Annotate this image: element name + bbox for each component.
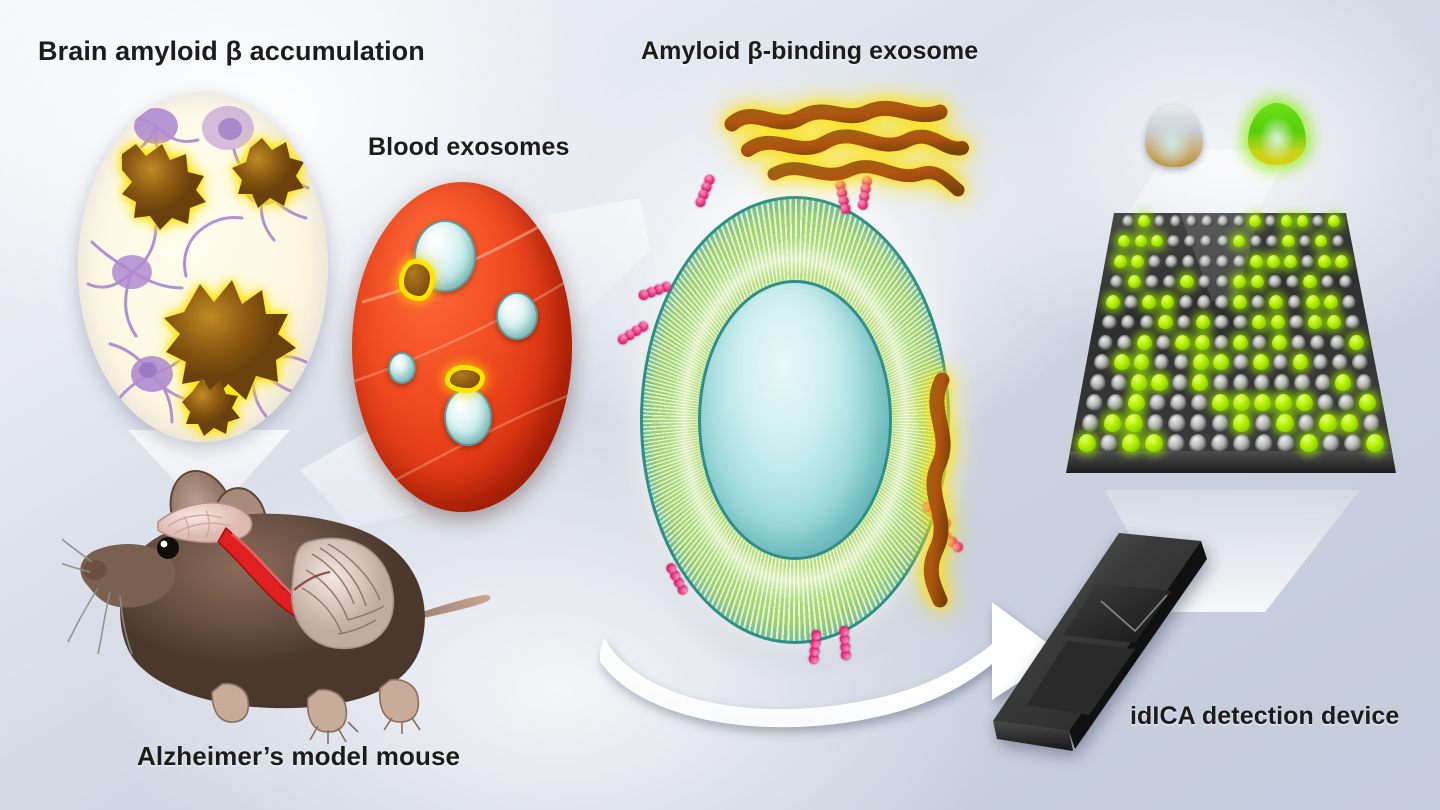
- well-negative: [1121, 315, 1136, 330]
- well-negative: [1342, 295, 1356, 309]
- well-negative: [1274, 374, 1290, 390]
- well-negative: [1167, 434, 1185, 452]
- well-negative: [1111, 374, 1127, 390]
- well-negative: [1277, 434, 1295, 452]
- well-positive: [1131, 374, 1147, 390]
- well-negative: [1338, 394, 1355, 411]
- well-negative: [1332, 235, 1344, 247]
- well-positive: [1251, 275, 1264, 288]
- well-positive: [1308, 315, 1323, 330]
- well-positive: [1125, 414, 1142, 431]
- alzheimers-model-mouse: [62, 430, 492, 750]
- well-negative: [1363, 414, 1380, 431]
- well-positive: [1213, 354, 1229, 370]
- well-positive: [1359, 394, 1376, 411]
- well-positive: [1193, 354, 1209, 370]
- well-negative: [1098, 335, 1113, 350]
- label-device: idICA detection device: [1130, 702, 1399, 731]
- well-negative: [1345, 315, 1360, 330]
- well-negative: [1273, 354, 1289, 370]
- well-negative: [1117, 335, 1132, 350]
- well-positive: [1341, 414, 1358, 431]
- well-negative: [1339, 275, 1352, 288]
- microwell-array-chip: [1060, 205, 1400, 485]
- well-negative: [1216, 275, 1229, 288]
- label-brain-amyloid: Brain amyloid β accumulation: [38, 36, 425, 67]
- well-positive: [1297, 215, 1309, 227]
- well-negative: [1122, 215, 1134, 227]
- mouse-eye: [157, 537, 179, 559]
- well-positive: [1192, 374, 1208, 390]
- well-negative: [1094, 354, 1110, 370]
- well-positive: [1135, 235, 1147, 247]
- well-negative: [1254, 374, 1270, 390]
- well-negative: [1191, 394, 1208, 411]
- well-positive: [1118, 235, 1130, 247]
- well-negative: [1190, 414, 1207, 431]
- brain-amyloid-oval: [78, 92, 328, 442]
- well-positive: [1158, 315, 1173, 330]
- well-positive: [1175, 335, 1190, 350]
- well-positive: [1306, 295, 1320, 309]
- well-negative: [1145, 275, 1158, 288]
- well-positive: [1145, 434, 1163, 452]
- well-negative: [1266, 235, 1278, 247]
- well-positive: [1233, 414, 1250, 431]
- well-negative: [1102, 315, 1117, 330]
- well-negative: [1233, 215, 1245, 227]
- well-negative: [1298, 414, 1315, 431]
- well-negative: [1215, 295, 1229, 309]
- well-positive: [1142, 295, 1156, 309]
- well-negative: [1216, 255, 1229, 268]
- well-positive: [1196, 315, 1211, 330]
- well-negative: [1148, 255, 1161, 268]
- label-mouse: Alzheimer’s model mouse: [137, 741, 460, 772]
- well-negative: [1344, 434, 1362, 452]
- well-negative: [1217, 235, 1229, 247]
- well-negative: [1255, 414, 1272, 431]
- well-negative: [1212, 414, 1229, 431]
- well-negative: [1288, 295, 1302, 309]
- well-negative: [1172, 374, 1188, 390]
- well-negative: [1165, 255, 1178, 268]
- well-positive: [1275, 394, 1292, 411]
- well-negative: [1213, 374, 1229, 390]
- well-negative: [1310, 335, 1325, 350]
- well-negative: [1168, 414, 1185, 431]
- well-negative: [1352, 354, 1368, 370]
- well-positive: [1134, 354, 1150, 370]
- well-positive: [1233, 394, 1250, 411]
- well-negative: [1110, 275, 1123, 288]
- well-positive: [1233, 335, 1248, 350]
- well-positive: [1272, 335, 1287, 350]
- well-positive: [1151, 374, 1167, 390]
- well-negative: [1154, 215, 1166, 227]
- well-positive: [1122, 434, 1140, 452]
- well-negative: [1090, 374, 1106, 390]
- exosome-vesicle: [496, 292, 538, 340]
- well-negative: [1233, 374, 1249, 390]
- exosome-lumen: [698, 280, 892, 560]
- bound-amyloid: [450, 370, 480, 388]
- well-positive: [1324, 295, 1338, 309]
- well-positive: [1284, 255, 1297, 268]
- well-negative: [1301, 255, 1314, 268]
- well-positive: [1296, 394, 1313, 411]
- well-positive: [1252, 315, 1267, 330]
- well-negative: [1291, 335, 1306, 350]
- brain-oval-contents: [78, 92, 328, 442]
- mouse-nose: [83, 560, 107, 580]
- well-negative: [1149, 394, 1166, 411]
- well-negative: [1179, 295, 1193, 309]
- well-positive: [1318, 255, 1331, 268]
- idica-detection-device: [985, 525, 1285, 780]
- well-negative: [1189, 434, 1207, 452]
- well-positive: [1315, 235, 1327, 247]
- well-negative: [1250, 235, 1262, 247]
- well-negative: [1154, 354, 1170, 370]
- well-negative: [1313, 354, 1329, 370]
- well-negative: [1170, 215, 1182, 227]
- well-positive: [1195, 335, 1210, 350]
- well-negative: [1201, 215, 1213, 227]
- well-grid: [1060, 205, 1400, 485]
- well-positive: [1271, 315, 1286, 330]
- well-negative: [1156, 335, 1171, 350]
- well-negative: [1167, 235, 1179, 247]
- well-positive: [1281, 215, 1293, 227]
- well-positive: [1104, 414, 1121, 431]
- well-negative: [1198, 275, 1211, 288]
- well-positive: [1180, 275, 1193, 288]
- well-negative: [1330, 335, 1345, 350]
- well-negative: [1214, 315, 1229, 330]
- well-positive: [1267, 255, 1280, 268]
- well-negative: [1147, 414, 1164, 431]
- well-negative: [1186, 215, 1198, 227]
- well-negative: [1174, 354, 1190, 370]
- well-negative: [1199, 255, 1212, 268]
- figure-canvas: Brain amyloid β accumulation Blood exoso…: [0, 0, 1440, 810]
- well-negative: [1233, 354, 1249, 370]
- bound-amyloid: [404, 264, 430, 296]
- well-positive: [1233, 295, 1247, 309]
- well-negative: [1286, 275, 1299, 288]
- well-negative: [1322, 434, 1340, 452]
- well-negative: [1252, 335, 1267, 350]
- well-positive: [1131, 255, 1144, 268]
- well-positive: [1319, 414, 1336, 431]
- label-blood-exosomes: Blood exosomes: [368, 133, 569, 162]
- well-negative: [1294, 374, 1310, 390]
- well-positive: [1106, 295, 1120, 309]
- well-negative: [1182, 255, 1195, 268]
- well-positive: [1212, 394, 1229, 411]
- well-positive: [1250, 255, 1263, 268]
- well-positive: [1114, 255, 1127, 268]
- well-positive: [1254, 394, 1271, 411]
- well-positive: [1161, 295, 1175, 309]
- well-negative: [1082, 414, 1099, 431]
- well-positive: [1366, 434, 1384, 452]
- well-positive: [1128, 275, 1141, 288]
- well-negative: [1184, 235, 1196, 247]
- well-positive: [1327, 315, 1342, 330]
- well-negative: [1321, 275, 1334, 288]
- well-negative: [1356, 374, 1372, 390]
- well-negative: [1233, 315, 1248, 330]
- well-negative: [1197, 295, 1211, 309]
- well-negative: [1211, 434, 1229, 452]
- well-positive: [1137, 335, 1152, 350]
- well-negative: [1200, 235, 1212, 247]
- well-positive: [1128, 394, 1145, 411]
- well-negative: [1177, 315, 1192, 330]
- well-negative: [1289, 315, 1304, 330]
- well-negative: [1214, 335, 1229, 350]
- well-positive: [1078, 434, 1096, 452]
- well-positive: [1249, 215, 1261, 227]
- well-negative: [1140, 315, 1155, 330]
- well-positive: [1276, 414, 1293, 431]
- well-negative: [1251, 295, 1265, 309]
- well-negative: [1233, 255, 1246, 268]
- well-positive: [1233, 275, 1246, 288]
- well-positive: [1233, 235, 1245, 247]
- mouse-eye-highlight: [161, 541, 168, 548]
- well-positive: [1328, 215, 1340, 227]
- well-positive: [1293, 354, 1309, 370]
- well-negative: [1265, 215, 1277, 227]
- well-negative: [1124, 295, 1138, 309]
- well-negative: [1086, 394, 1103, 411]
- well-positive: [1335, 374, 1351, 390]
- exosome-vesicle: [388, 352, 416, 384]
- well-negative: [1299, 235, 1311, 247]
- well-positive: [1138, 215, 1150, 227]
- well-positive: [1253, 354, 1269, 370]
- well-negative: [1233, 434, 1251, 452]
- amyloid-fibril-top: [718, 78, 978, 228]
- well-positive: [1303, 275, 1316, 288]
- well-negative: [1315, 374, 1331, 390]
- well-negative: [1170, 394, 1187, 411]
- well-negative: [1107, 394, 1124, 411]
- well-positive: [1349, 335, 1364, 350]
- well-negative: [1312, 215, 1324, 227]
- label-amyloid-binding-exosome: Amyloid β-binding exosome: [641, 37, 978, 66]
- mouse-illustration: [62, 430, 492, 750]
- well-positive: [1282, 235, 1294, 247]
- well-positive: [1151, 235, 1163, 247]
- well-negative: [1100, 434, 1118, 452]
- well-negative: [1268, 275, 1281, 288]
- well-positive: [1269, 295, 1283, 309]
- well-negative: [1332, 354, 1348, 370]
- well-positive: [1335, 255, 1348, 268]
- well-positive: [1300, 434, 1318, 452]
- well-negative: [1317, 394, 1334, 411]
- well-negative: [1217, 215, 1229, 227]
- well-negative: [1255, 434, 1273, 452]
- well-positive: [1114, 354, 1130, 370]
- well-negative: [1163, 275, 1176, 288]
